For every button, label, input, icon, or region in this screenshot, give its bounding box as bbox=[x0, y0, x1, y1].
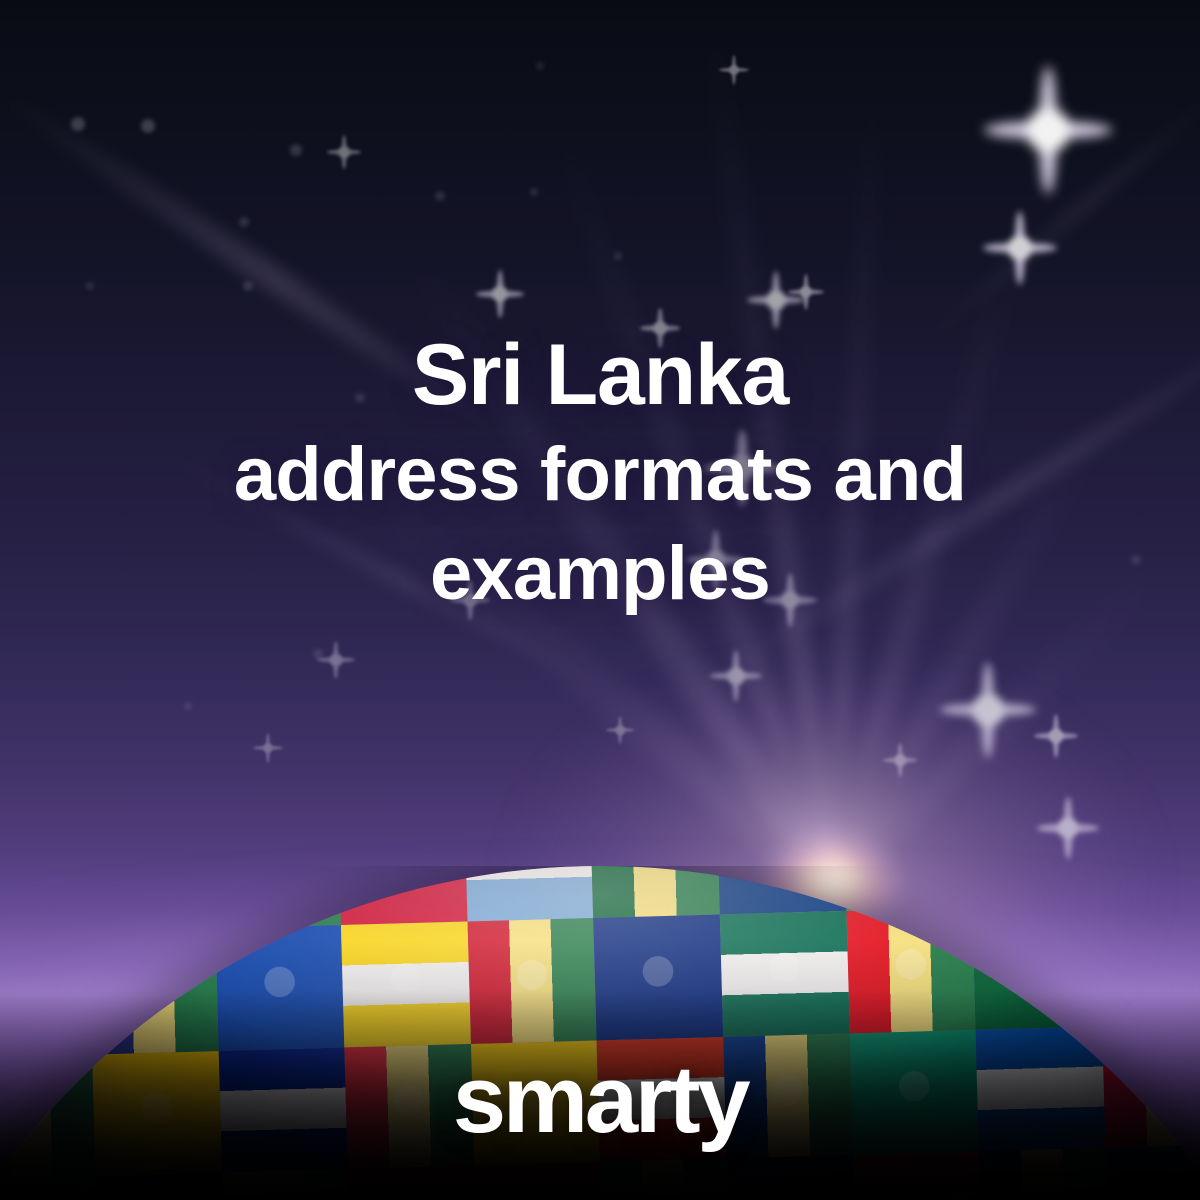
flag-emblem bbox=[0, 932, 92, 1057]
flag-emblem bbox=[969, 866, 1099, 908]
headline-subline-2: examples bbox=[70, 531, 1130, 616]
flag-emblem bbox=[842, 866, 972, 911]
star-dot-icon bbox=[86, 282, 94, 290]
star-dot-icon bbox=[243, 281, 253, 291]
star-dot-icon bbox=[313, 649, 323, 659]
star-dot-icon bbox=[530, 188, 538, 196]
star-dot-icon bbox=[435, 191, 445, 201]
flag-emblem bbox=[0, 866, 88, 936]
star-dot-icon bbox=[239, 217, 249, 227]
star-dot-icon bbox=[184, 702, 192, 710]
globe-flag-tile bbox=[0, 866, 88, 936]
globe-flag-tile bbox=[85, 866, 215, 932]
flag-emblem bbox=[1095, 866, 1200, 904]
brand-wordmark: smarty bbox=[453, 1052, 747, 1148]
flag-emblem bbox=[1098, 901, 1200, 1026]
star-dot-icon bbox=[536, 62, 544, 70]
star-dot-icon bbox=[71, 117, 85, 131]
globe-flag-tile bbox=[0, 932, 92, 1057]
headline-country: Sri Lanka bbox=[70, 332, 1130, 418]
social-promo-card: Sri Lanka address formats and examples s… bbox=[0, 0, 1200, 1200]
star-dot-icon bbox=[141, 119, 155, 133]
globe-flag-tile bbox=[842, 866, 972, 911]
flag-emblem bbox=[85, 866, 215, 932]
page-title: Sri Lanka address formats and examples bbox=[0, 332, 1200, 616]
star-dot-icon bbox=[290, 144, 302, 156]
globe-flag-tile bbox=[1095, 866, 1200, 904]
globe-flag-tile bbox=[969, 866, 1099, 908]
brand-logo[interactable]: smarty bbox=[0, 1052, 1200, 1148]
star-dot-icon bbox=[614, 252, 622, 260]
headline-subline-1: address formats and bbox=[70, 432, 1130, 517]
globe-flag-tile bbox=[1098, 901, 1200, 1026]
